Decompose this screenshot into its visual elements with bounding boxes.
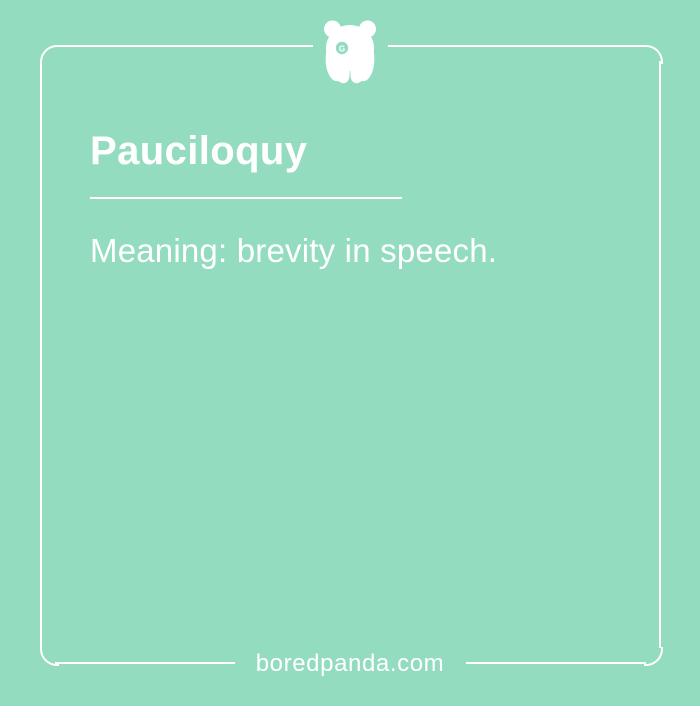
- frame-border-top-left: [55, 45, 313, 47]
- meaning-text: Meaning: brevity in speech.: [90, 230, 497, 272]
- svg-text:G: G: [339, 45, 345, 54]
- frame-border-top-right: [388, 45, 646, 47]
- frame-corner-top-left: [40, 45, 59, 64]
- panda-logo-icon: G: [322, 18, 378, 84]
- frame-corner-top-right: [644, 45, 663, 64]
- title-divider: [90, 197, 402, 199]
- frame-border-left: [40, 61, 42, 648]
- frame-border-right: [659, 61, 661, 648]
- definition-card: G Pauciloquy Meaning: brevity in speech.…: [0, 0, 700, 706]
- page-title: Pauciloquy: [90, 127, 307, 175]
- site-url-label: boredpanda.com: [0, 648, 700, 680]
